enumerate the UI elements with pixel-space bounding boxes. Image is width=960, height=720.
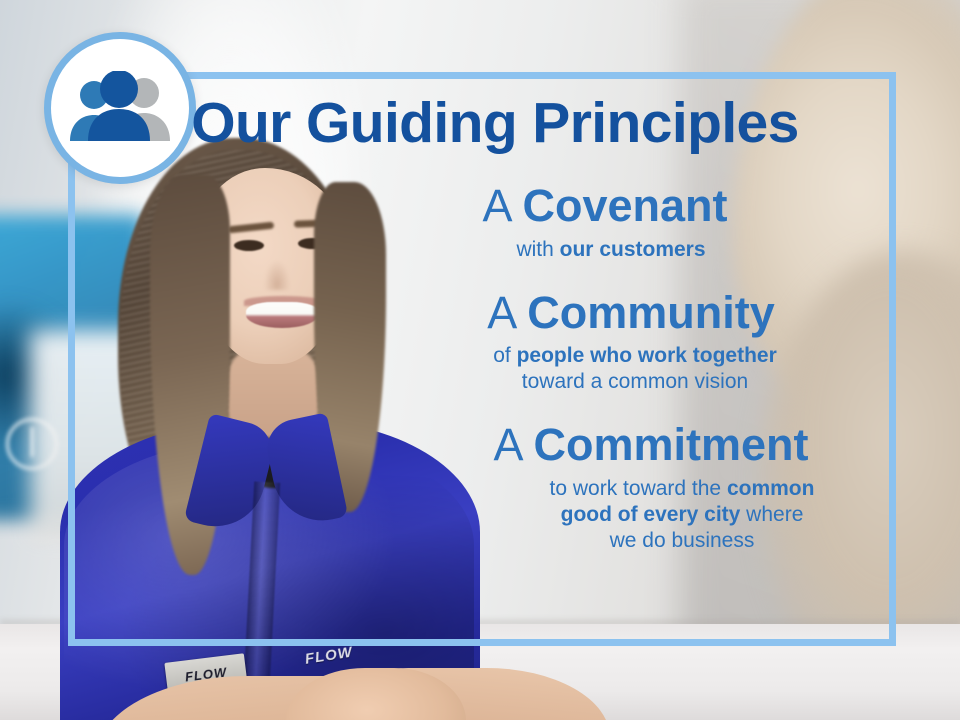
principle-covenant: A Covenant with our customers (300, 182, 892, 263)
subtext-line: we do business (472, 528, 892, 554)
subtext-line: with our customers (330, 237, 892, 263)
subtext-span-bold: common (727, 477, 815, 500)
subtext-span-bold: good of every city (561, 503, 741, 526)
principle-article: A (482, 180, 522, 231)
principle-heading: A Community (300, 289, 892, 338)
subtext-span: with (516, 238, 559, 261)
subtext-span: where (740, 503, 803, 526)
principle-subtext: of people who work together toward a com… (300, 343, 892, 395)
principle-subtext: with our customers (300, 237, 892, 263)
subtext-span-bold: our customers (560, 238, 706, 261)
principles-list: A Covenant with our customers A Communit… (300, 182, 892, 556)
subtext-span: of (493, 344, 516, 367)
guiding-principles-graphic: FLOW FLOW Our Gu (0, 0, 960, 720)
principle-heading: A Covenant (300, 182, 892, 231)
subtext-line: toward a common vision (378, 369, 892, 395)
page-title: Our Guiding Principles (0, 90, 960, 156)
subtext-line: of people who work together (378, 343, 892, 369)
principle-subtext: to work toward the common good of every … (300, 476, 892, 554)
nose (264, 260, 290, 290)
eye-left (234, 240, 264, 251)
subtext-span: we do business (610, 529, 755, 552)
principle-community: A Community of people who work together … (300, 289, 892, 396)
principle-heading: A Commitment (300, 421, 892, 470)
principle-article: A (493, 419, 533, 470)
subtext-line: good of every city where (472, 502, 892, 528)
principle-article: A (487, 287, 527, 338)
subtext-span: to work toward the (550, 477, 727, 500)
principle-commitment: A Commitment to work toward the common g… (300, 421, 892, 554)
subtext-line: to work toward the common (472, 476, 892, 502)
principle-word: Covenant (523, 180, 728, 231)
subtext-span-bold: people who work together (517, 344, 777, 367)
principle-word: Commitment (534, 419, 809, 470)
subtext-span: toward a common vision (522, 370, 748, 393)
principle-word: Community (527, 287, 775, 338)
